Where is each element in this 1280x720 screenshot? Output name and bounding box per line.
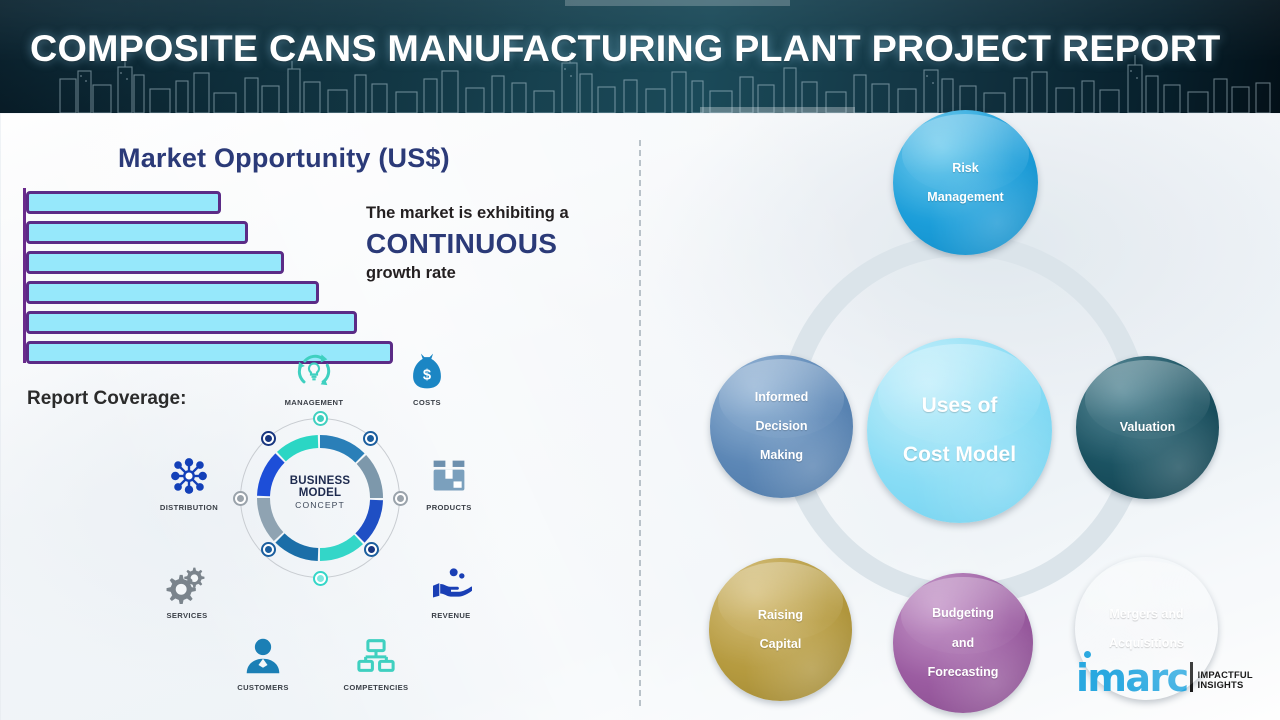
- valuation-label: Valuation: [1114, 420, 1182, 435]
- business-model-wheel: BUSINESS MODEL CONCEPT: [240, 418, 400, 578]
- logo-divider-bar: [1190, 662, 1193, 692]
- coverage-label: CUSTOMERS: [214, 683, 312, 692]
- logo-tagline: IMPACTFUL INSIGHTS: [1198, 670, 1253, 694]
- market-opportunity-bar-chart: [23, 188, 423, 363]
- gears-icon: [138, 561, 236, 607]
- bubble-raising-capital[interactable]: Raising Capital: [709, 558, 852, 701]
- network-nodes-icon: [140, 453, 238, 499]
- svg-text:$: $: [423, 368, 431, 384]
- logo-tagline-line-2: INSIGHTS: [1198, 680, 1253, 691]
- wheel-subtitle: CONCEPT: [240, 501, 400, 510]
- coverage-item-customers: CUSTOMERS: [214, 633, 312, 692]
- coverage-label: COMPETENCIES: [327, 683, 425, 692]
- informed-line-1: Informed: [749, 390, 814, 405]
- mergers-line-2: Acquisitions: [1103, 636, 1190, 651]
- wheel-node: [364, 542, 379, 557]
- bubble-informed-decision-making[interactable]: Informed Decision Making: [710, 355, 853, 498]
- chart-y-axis: [23, 188, 26, 363]
- center-line-2: Cost Model: [897, 443, 1022, 468]
- wheel-node: [313, 411, 328, 426]
- raising-capital-line-2: Capital: [752, 637, 809, 652]
- center-line-1: Uses of: [897, 394, 1022, 419]
- coverage-item-competencies: COMPETENCIES: [327, 633, 425, 692]
- coverage-label: REVENUE: [402, 611, 500, 620]
- user-person-icon: [214, 633, 312, 679]
- coverage-label: MANAGEMENT: [265, 398, 363, 407]
- report-coverage-wheel: MANAGEMENT $ COSTS: [130, 358, 510, 718]
- right-panel: Uses of Cost Model Risk Management Valua…: [639, 113, 1280, 720]
- chart-bar: [26, 281, 319, 304]
- wheel-title-line-1: BUSINESS: [240, 475, 400, 487]
- chart-bar: [26, 311, 357, 334]
- bubble-budgeting-and-forecasting[interactable]: Budgeting and Forecasting: [893, 573, 1033, 713]
- bubble-risk-management[interactable]: Risk Management: [893, 110, 1038, 255]
- slide-canvas: COMPOSITE CANS MANUFACTURING PLANT PROJE…: [0, 0, 1280, 720]
- logo-dot-icon: [1084, 651, 1091, 658]
- money-bag-icon: $: [378, 348, 476, 394]
- growth-line-1: The market is exhibiting a: [366, 203, 636, 224]
- coverage-label: COSTS: [378, 398, 476, 407]
- coverage-label: DISTRIBUTION: [140, 503, 238, 512]
- raising-capital-line-1: Raising: [752, 608, 809, 623]
- header-top-notch: [565, 0, 790, 6]
- logo-wordmark: imarc: [1076, 663, 1188, 694]
- imarc-logo[interactable]: imarc IMPACTFUL INSIGHTS: [1076, 662, 1253, 694]
- risk-management-line-1: Risk: [921, 161, 1009, 176]
- coverage-label: PRODUCTS: [400, 503, 498, 512]
- chart-bar: [26, 251, 284, 274]
- slide-header: COMPOSITE CANS MANUFACTURING PLANT PROJE…: [0, 0, 1280, 113]
- informed-line-3: Making: [749, 448, 814, 463]
- growth-callout: The market is exhibiting a CONTINUOUS gr…: [366, 203, 636, 284]
- chart-bar: [26, 221, 248, 244]
- hand-coins-icon: [402, 561, 500, 607]
- bubble-valuation[interactable]: Valuation: [1076, 356, 1219, 499]
- org-chart-icon: [327, 633, 425, 679]
- bubble-uses-of-cost-model[interactable]: Uses of Cost Model: [867, 338, 1052, 523]
- risk-management-line-2: Management: [921, 190, 1009, 205]
- mergers-line-1: Mergers and: [1103, 607, 1190, 622]
- budgeting-line-2: and: [922, 636, 1005, 651]
- page-title: COMPOSITE CANS MANUFACTURING PLANT PROJE…: [30, 28, 1220, 70]
- left-panel: Market Opportunity (US$) The market is e…: [0, 113, 639, 720]
- coverage-item-management: MANAGEMENT: [265, 348, 363, 407]
- market-opportunity-title: Market Opportunity (US$): [118, 143, 450, 174]
- logo-word-text: imarc: [1076, 656, 1188, 700]
- wheel-node: [313, 571, 328, 586]
- budgeting-line-1: Budgeting: [922, 606, 1005, 621]
- coverage-item-distribution: DISTRIBUTION: [140, 453, 238, 512]
- chart-bar: [26, 191, 221, 214]
- budgeting-line-3: Forecasting: [922, 665, 1005, 680]
- coverage-item-revenue: REVENUE: [402, 561, 500, 620]
- informed-line-2: Decision: [749, 419, 814, 434]
- wheel-title-line-2: MODEL: [240, 487, 400, 499]
- wheel-center-text: BUSINESS MODEL CONCEPT: [240, 475, 400, 510]
- coverage-item-products: PRODUCTS: [400, 453, 498, 512]
- wheel-node: [261, 542, 276, 557]
- wheel-node: [261, 431, 276, 446]
- growth-line-3: growth rate: [366, 264, 636, 284]
- recycle-lightbulb-icon: [265, 348, 363, 394]
- open-box-icon: [400, 453, 498, 499]
- coverage-item-costs: $ COSTS: [378, 348, 476, 407]
- coverage-item-services: SERVICES: [138, 561, 236, 620]
- growth-emphasis: CONTINUOUS: [366, 224, 636, 265]
- wheel-node: [363, 431, 378, 446]
- coverage-label: SERVICES: [138, 611, 236, 620]
